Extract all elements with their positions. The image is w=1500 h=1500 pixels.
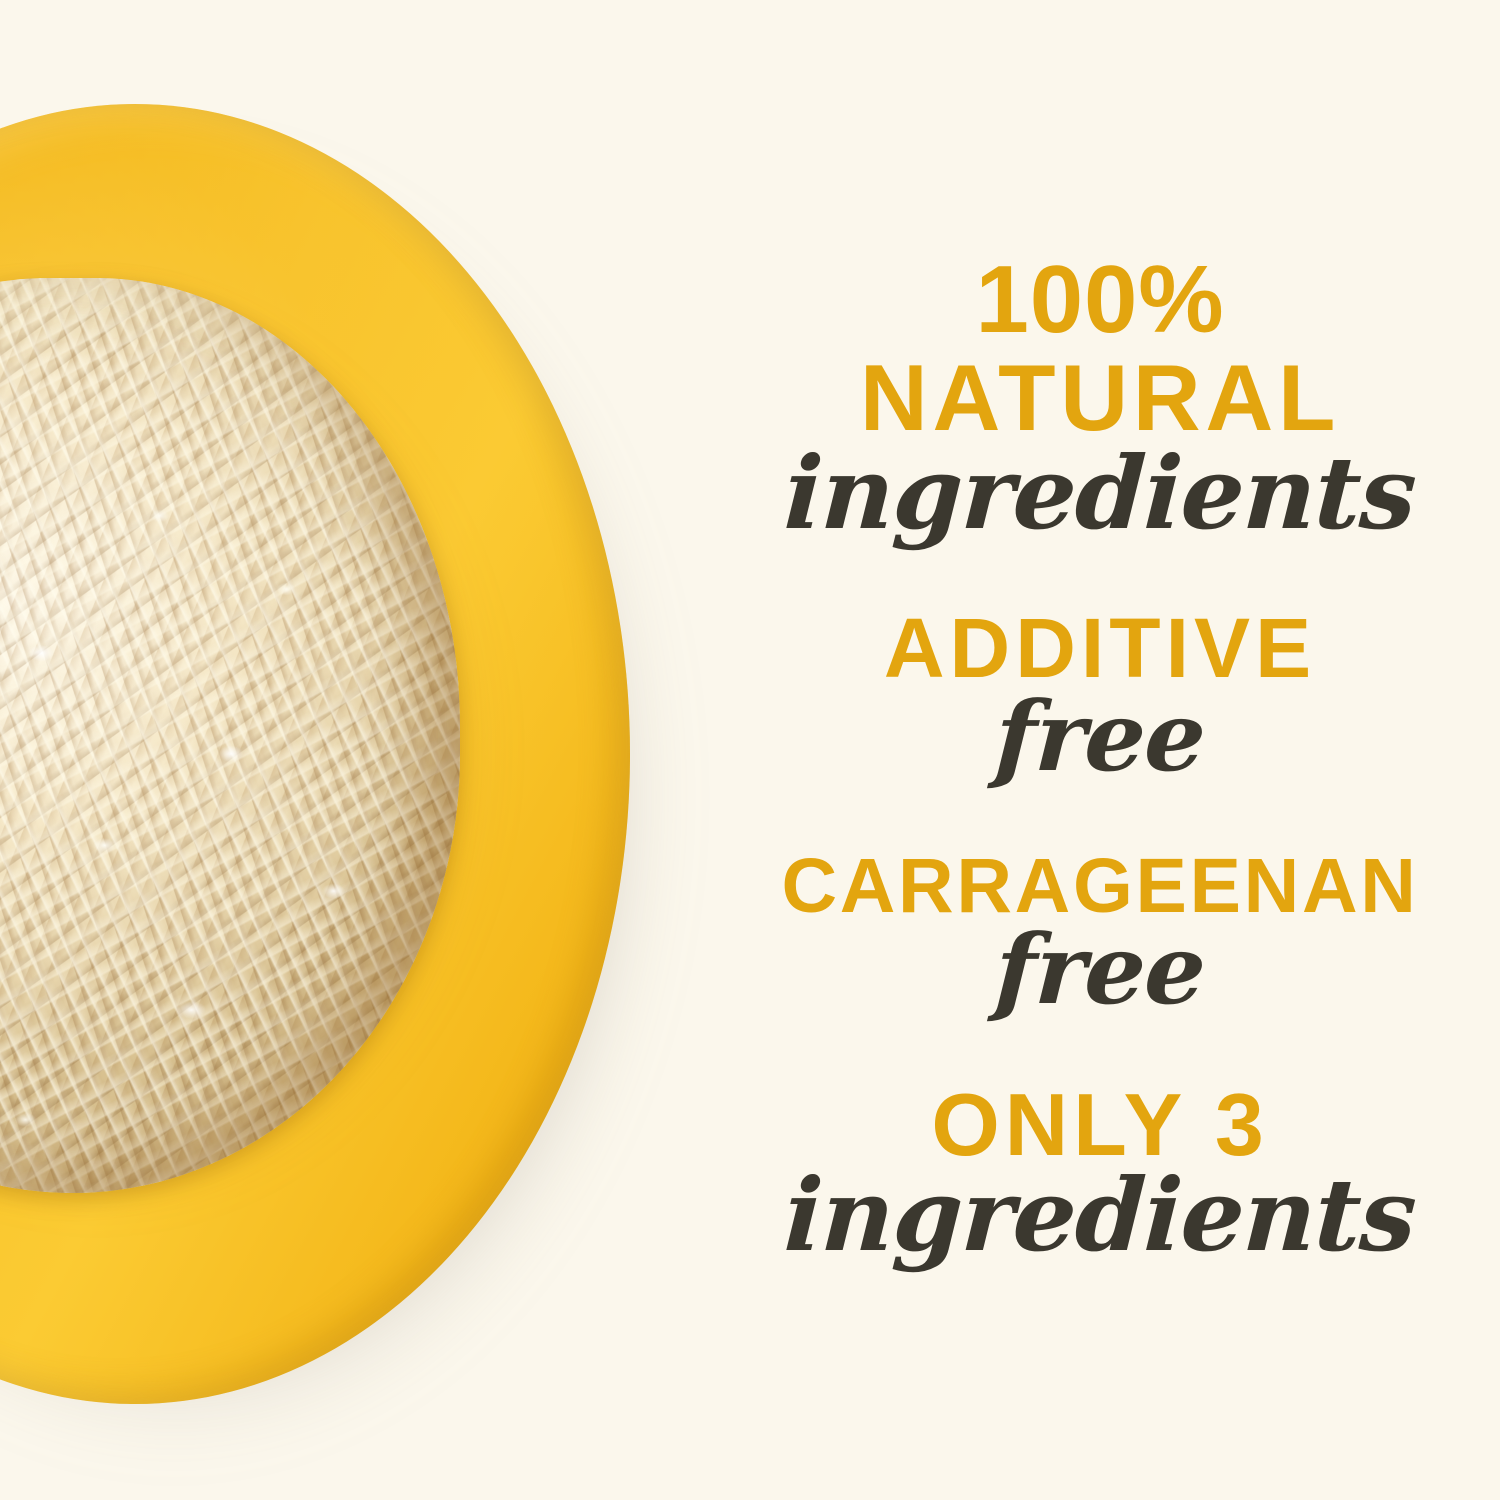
product-benefits-graphic: 100% NATURAL ingredients ADDITIVE free C… [0, 0, 1500, 1500]
claims-list: 100% NATURAL ingredients ADDITIVE free C… [700, 0, 1500, 1500]
claim-only-3: ONLY 3 ingredients [700, 1080, 1500, 1265]
claim-additive-headline: ADDITIVE [700, 605, 1500, 692]
claim-natural-headline-line2: NATURAL [700, 350, 1500, 447]
claim-additive: ADDITIVE free [700, 605, 1500, 786]
claim-natural: 100% NATURAL ingredients [700, 251, 1500, 543]
claim-natural-headline: 100% NATURAL [700, 251, 1500, 447]
claim-only-3-script: ingredients [697, 1165, 1500, 1265]
claim-natural-headline-line1: 100% [700, 251, 1500, 350]
claim-additive-headline-line2: ADDITIVE [700, 605, 1500, 692]
claim-carrageenan-script: free [697, 922, 1500, 1018]
claim-additive-script: free [697, 689, 1500, 785]
product-photo [0, 0, 760, 1500]
shredded-chicken-mound [0, 278, 460, 1193]
claim-carrageenan: CARRAGEENAN free [700, 847, 1500, 1018]
claim-natural-script: ingredients [697, 443, 1500, 543]
